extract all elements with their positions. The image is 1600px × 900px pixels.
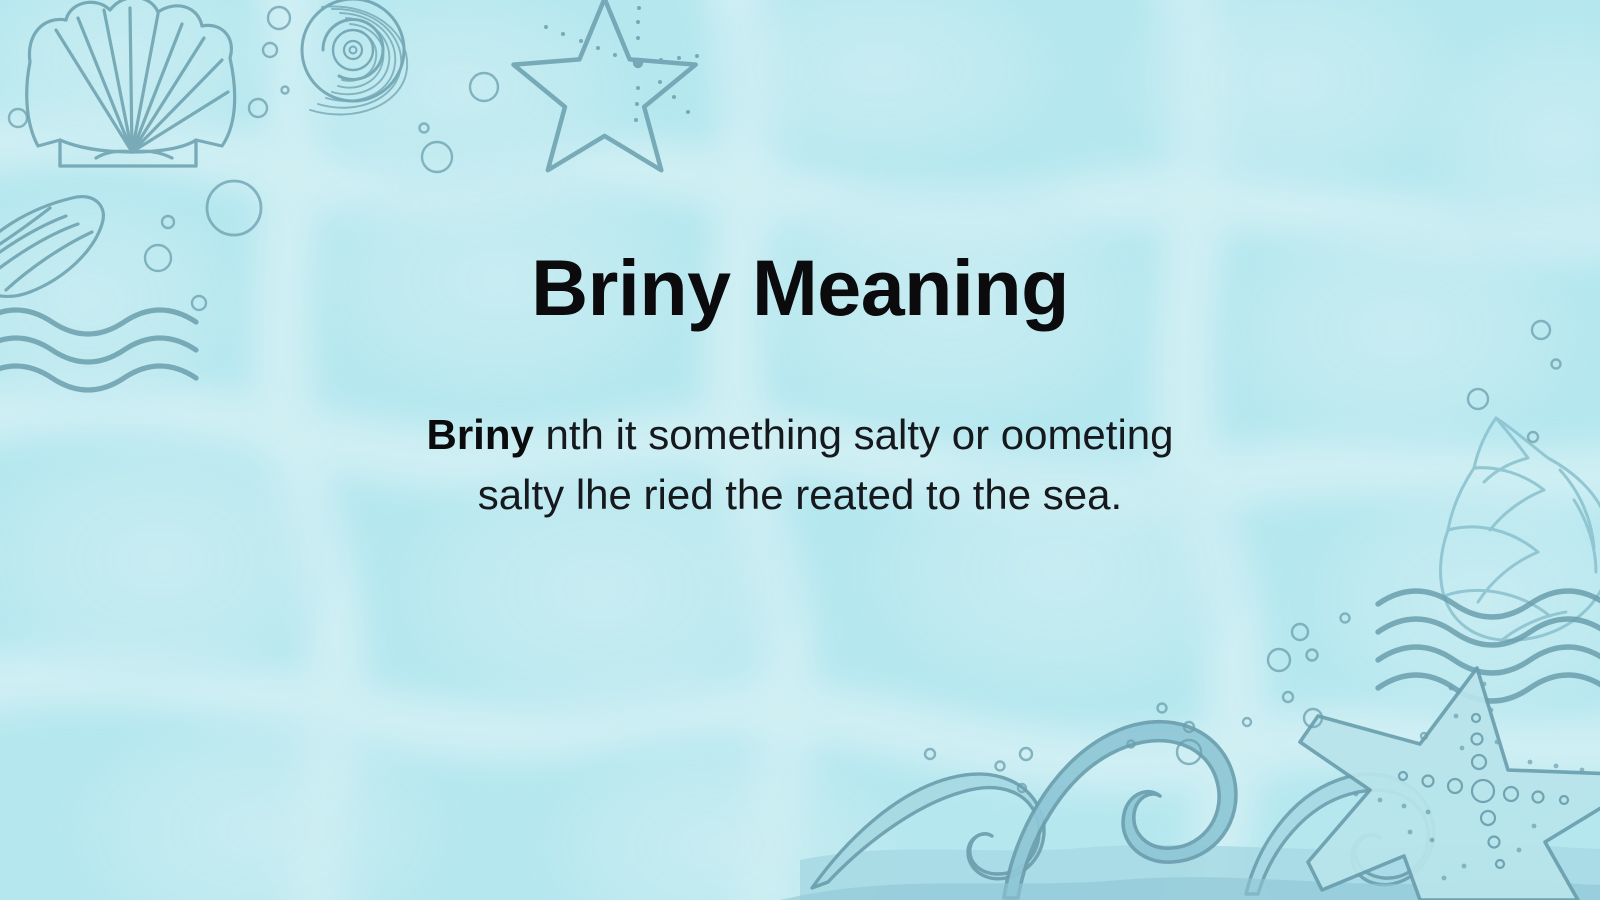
page-title: Briny Meaning — [0, 247, 1600, 330]
bubbles-icon — [0, 0, 1600, 900]
wave-lines-icon — [0, 310, 196, 390]
top-center-sea-motifs — [0, 0, 1600, 900]
slide-canvas: Briny Meaning Briny nth it something sal… — [0, 0, 1600, 900]
left-edge-sea-motifs — [0, 0, 1600, 900]
cone-shell-icon — [0, 197, 103, 297]
ocean-waves-icon — [0, 0, 1600, 900]
nautilus-shell-icon — [302, 0, 407, 114]
conch-shell-icon — [1441, 418, 1600, 640]
wave-lines-icon — [1378, 591, 1600, 701]
scallop-shell-icon — [0, 0, 1600, 900]
water-caustic-background — [0, 0, 1600, 900]
definition-term: Briny — [426, 411, 533, 458]
starfish-icon — [1300, 668, 1600, 900]
definition-text: Briny nth it something salty or oometing… — [380, 405, 1220, 524]
water-caustic-cells — [0, 0, 1600, 900]
right-edge-sea-motifs — [0, 0, 1600, 900]
starfish-icon — [513, 0, 699, 170]
definition-body: nth it something salty or oometing salty… — [478, 411, 1174, 518]
slide-text-block: Briny Meaning Briny nth it something sal… — [0, 0, 1600, 900]
